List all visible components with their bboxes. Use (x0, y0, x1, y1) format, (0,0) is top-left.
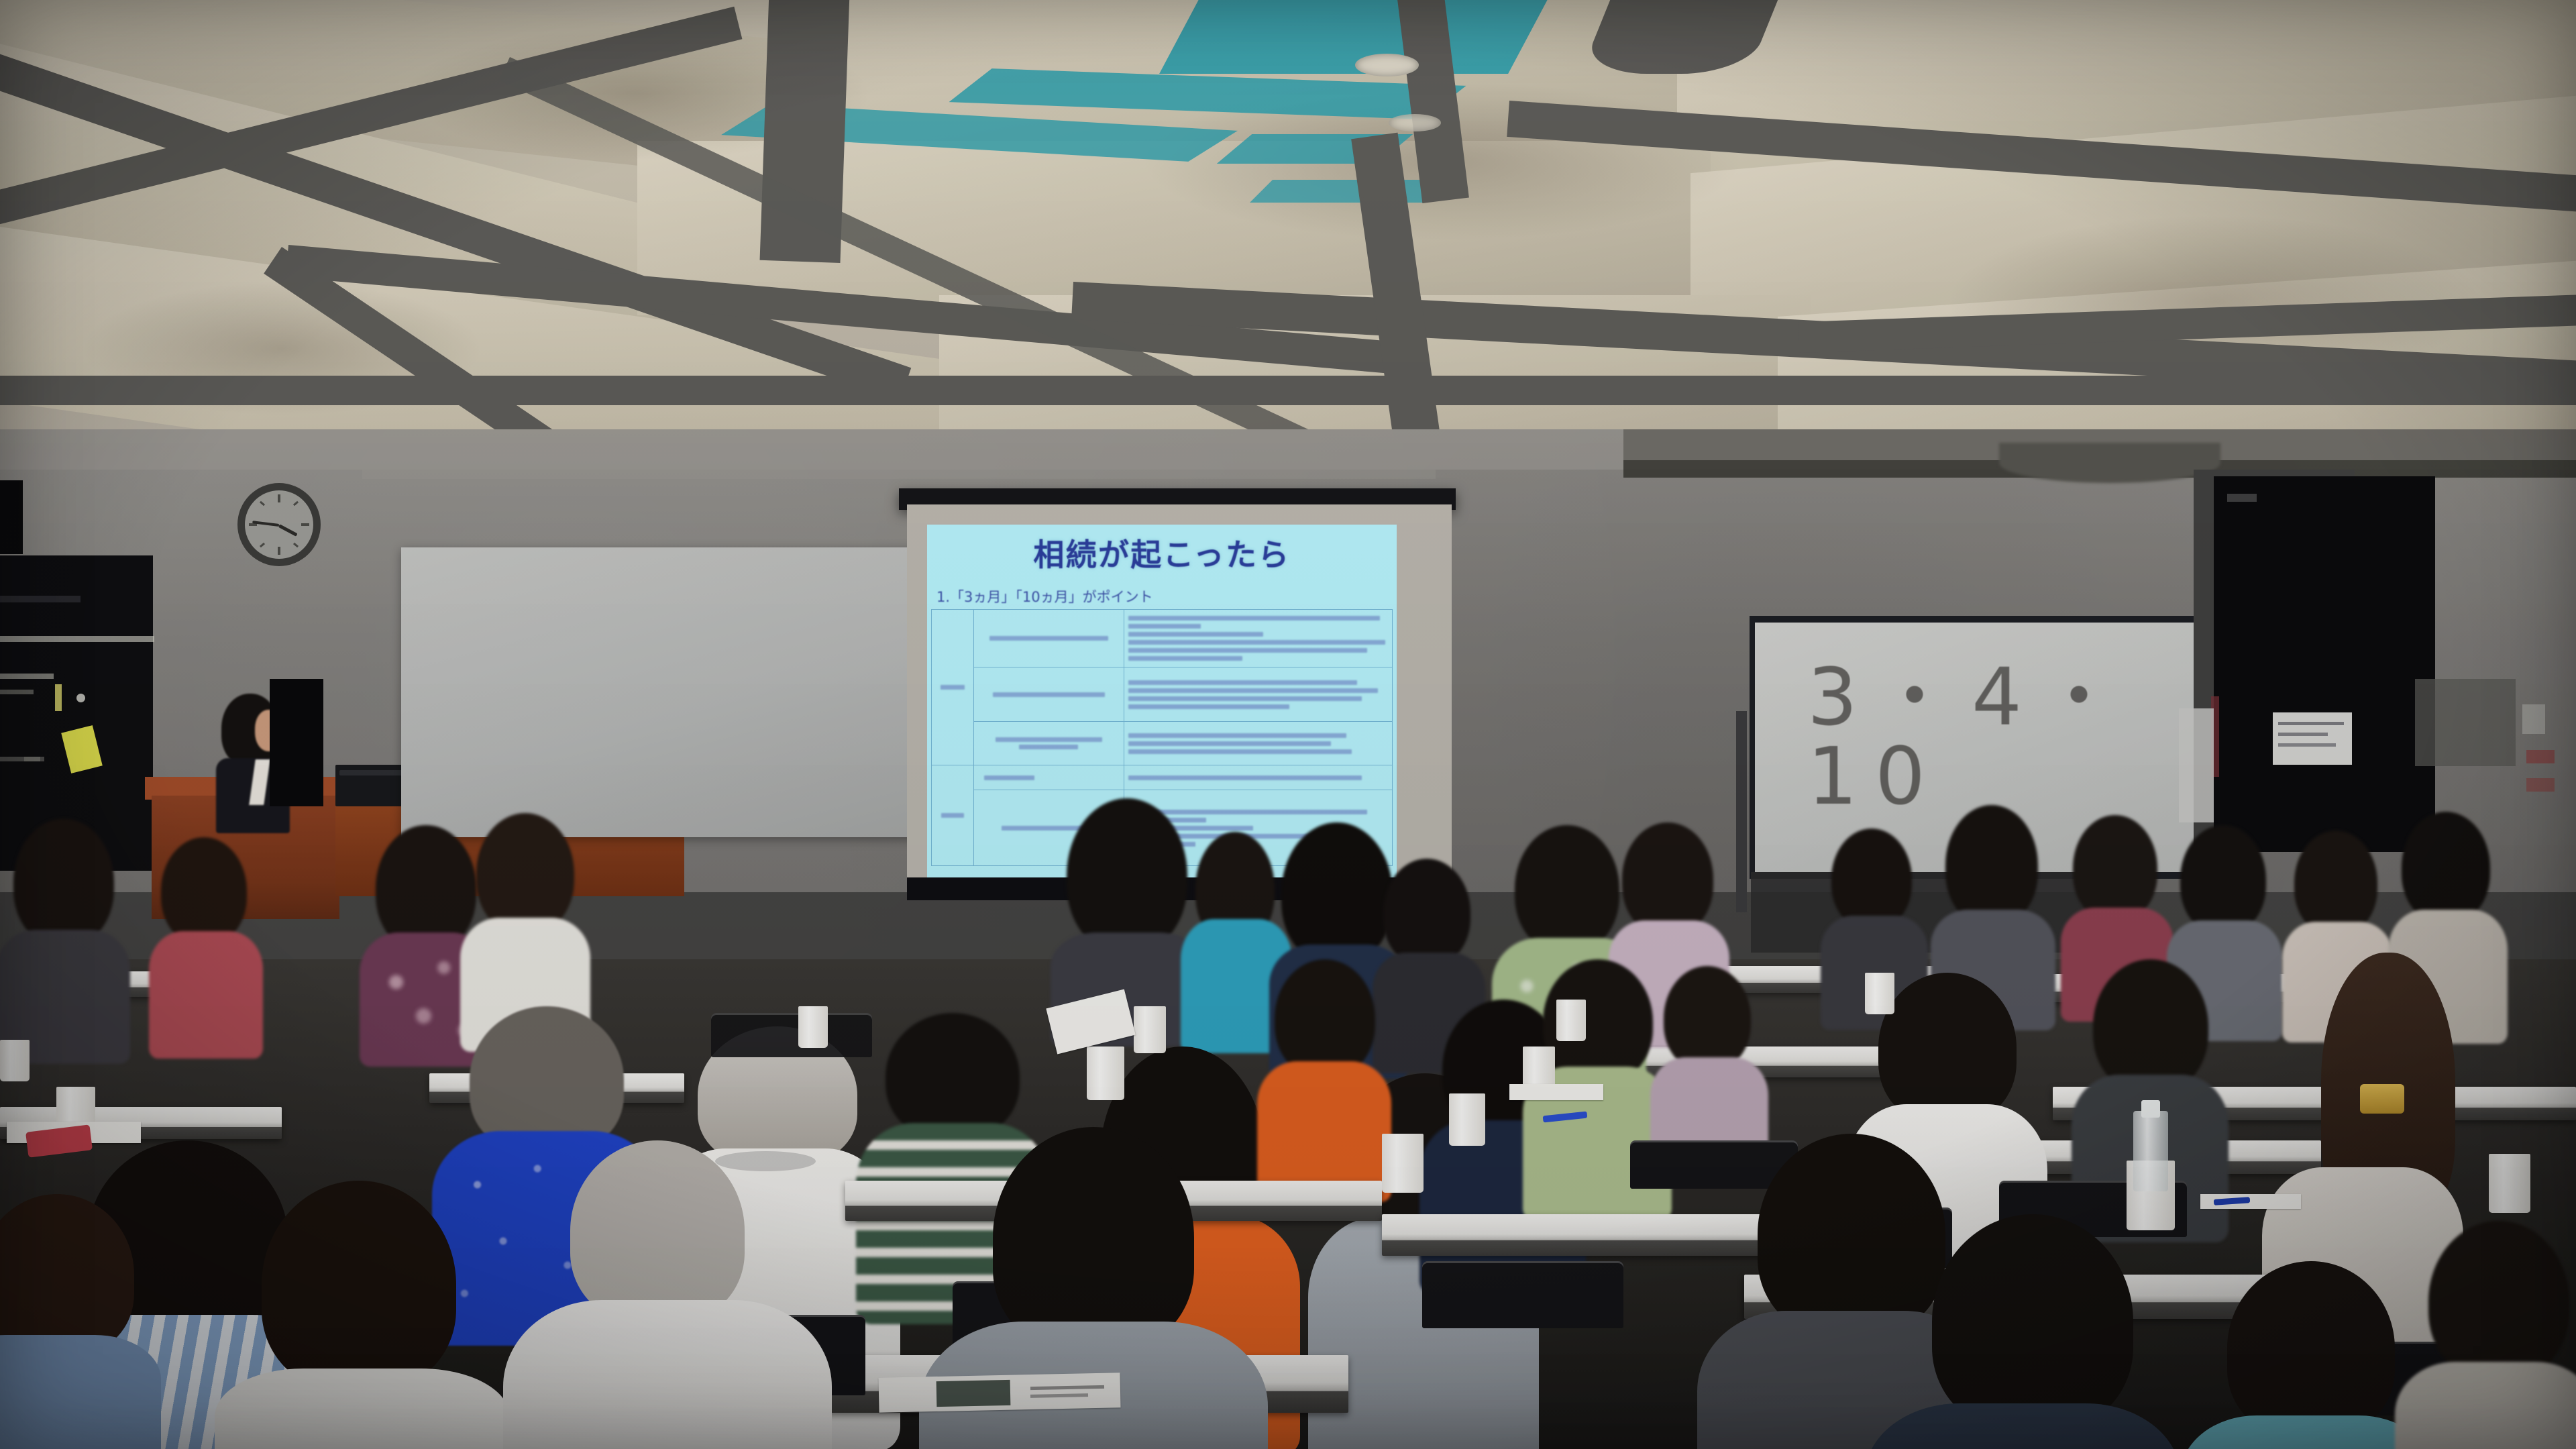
torso (149, 931, 263, 1059)
projection-screen: 相続が起こったら 1.「3ヵ月」「10ヵ月」がポイント (907, 504, 1452, 887)
hair (1067, 798, 1187, 953)
laptop-screen-edge (339, 770, 409, 775)
hair (1515, 825, 1619, 953)
ceiling-duct (1999, 443, 2220, 483)
hair (1831, 828, 1912, 929)
hair (1383, 859, 1470, 966)
bottle-cap (2141, 1100, 2160, 1118)
torso (2395, 1362, 2576, 1449)
hair (2428, 1221, 2569, 1382)
hair (2227, 1261, 2395, 1436)
handout-photo-block (936, 1380, 1011, 1407)
clock-tick (301, 523, 309, 526)
doorway[interactable] (2214, 476, 2435, 852)
wall-seam (362, 470, 1436, 479)
collar (715, 1151, 816, 1171)
hair (1945, 805, 2038, 926)
hair (2093, 959, 2208, 1093)
ceiling-downlight (1389, 114, 1441, 131)
paper-cup (0, 1040, 30, 1081)
rack-slot (0, 690, 34, 694)
hair (2294, 830, 2377, 935)
clock-tick (260, 501, 265, 506)
paper-cup (1556, 1000, 1586, 1041)
wall-clock (237, 483, 321, 566)
door-upper-label (2227, 494, 2257, 502)
hair (885, 1013, 1020, 1140)
wall-recess (2415, 679, 2516, 766)
wall-notice-board (2179, 708, 2214, 822)
clock-tick (293, 501, 299, 506)
hair (1758, 1134, 1945, 1335)
torso (503, 1300, 832, 1449)
hair (1281, 822, 1393, 965)
hair (2073, 815, 2157, 921)
gold-hair-clip (2360, 1084, 2404, 1114)
seminar-room-photo: 相続が起こったら 1.「3ヵ月」「10ヵ月」がポイント (0, 0, 2576, 1449)
door-sign-line (2278, 722, 2344, 725)
rack-slot (0, 596, 80, 602)
door-sign-line (2278, 743, 2336, 747)
hair-grey (570, 1140, 745, 1322)
clock-hour-hand (278, 524, 298, 536)
chair[interactable] (1422, 1261, 1623, 1328)
rack-slot (0, 674, 54, 679)
clock-tick (278, 547, 280, 555)
chair[interactable] (711, 1013, 872, 1057)
hair (993, 1127, 1194, 1348)
rack-top-box (0, 480, 23, 554)
hair (262, 1181, 456, 1389)
dark-doorway-behind-presenter (270, 679, 323, 806)
rack-slot (24, 757, 44, 761)
hair (1664, 966, 1751, 1071)
clock-face (245, 490, 313, 559)
slide-table-row (932, 610, 1393, 667)
slide-table-row (932, 765, 1393, 790)
paper-cup (1087, 1046, 1124, 1100)
emergency-indicator (2526, 750, 2555, 763)
rack-indicator (76, 694, 85, 702)
hair (1932, 1214, 2133, 1429)
hair (2402, 812, 2490, 923)
ceiling-structure (0, 0, 2576, 470)
clock-tick (293, 543, 299, 547)
water-bottle (2133, 1111, 2168, 1191)
hair (1275, 959, 1375, 1077)
ceiling-beam-lower-rail (0, 376, 2576, 405)
slide-table-row (932, 722, 1393, 765)
torso (0, 1335, 161, 1449)
paper-cup (2489, 1154, 2530, 1213)
hair (161, 837, 247, 945)
rack-led-strip (55, 684, 62, 711)
hair (476, 813, 574, 934)
paper-cup (1382, 1134, 1424, 1193)
sticky-note[interactable] (61, 725, 103, 773)
slide-title: 相続が起こったら (927, 537, 1397, 573)
light-switch-panel[interactable] (2522, 704, 2545, 734)
paper-cup (1865, 973, 1894, 1014)
door-sign (2273, 712, 2352, 765)
door-sign-line (2278, 733, 2328, 736)
wall-board-left (401, 547, 924, 837)
hair (13, 818, 114, 946)
hair (1878, 973, 2017, 1123)
paper-cup (798, 1006, 828, 1048)
whiteboard-stand-post (1736, 711, 1747, 912)
handout-paper[interactable] (1509, 1084, 1603, 1100)
emergency-indicator (2526, 778, 2555, 792)
hair (2180, 825, 2266, 934)
ceiling-downlight (1355, 54, 1419, 76)
clock-tick (278, 494, 280, 502)
hair (1622, 822, 1713, 935)
ceiling-teal-strip (1250, 180, 1447, 203)
paper-cup (1449, 1093, 1485, 1146)
clock-tick (260, 543, 265, 547)
torso (215, 1368, 510, 1449)
paper-cup (1134, 1006, 1166, 1053)
slide-table-row (932, 667, 1393, 722)
slide-subtitle: 1.「3ヵ月」「10ヵ月」がポイント (936, 586, 1393, 606)
rack-slot (0, 636, 154, 642)
